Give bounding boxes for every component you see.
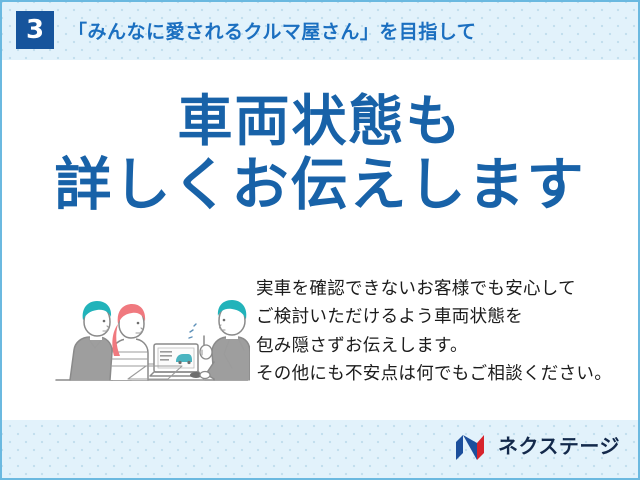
header: 3 「みんなに愛されるクルマ屋さん」を目指して bbox=[2, 2, 638, 58]
body-line-3: 包み隠さずお伝えします。 bbox=[256, 331, 638, 359]
sparkle-icon bbox=[189, 324, 196, 338]
footer: ネクステージ bbox=[2, 420, 638, 478]
page-title: 車両状態も 詳しくお伝えします bbox=[2, 90, 638, 218]
body-line-2: ご検討いただけるよう車両状態を bbox=[256, 302, 638, 330]
lower-section: .ol { fill:none; stroke:#8a8a8a; stroke-… bbox=[2, 272, 638, 420]
pointing-hand bbox=[200, 336, 212, 359]
body-line-1: 実車を確認できないお客様でも安心して bbox=[256, 274, 638, 302]
headline-line-2: 詳しくお伝えします bbox=[2, 153, 638, 218]
brand-name: ネクステージ bbox=[498, 437, 620, 457]
header-title: 「みんなに愛されるクルマ屋さん」を目指して bbox=[68, 17, 476, 44]
customer-man-figure bbox=[70, 301, 112, 380]
headline-line-1: 車両状態も bbox=[2, 90, 638, 153]
content-panel: 車両状態も 詳しくお伝えします .ol { fill:none; stroke:… bbox=[2, 60, 638, 420]
body-line-4: その他にも不安点は何でもご相談ください。 bbox=[256, 359, 638, 387]
body-copy: 実車を確認できないお客様でも安心して ご検討いただけるよう車両状態を 包み隠さず… bbox=[256, 274, 638, 387]
brand-logo: ネクステージ bbox=[455, 432, 620, 462]
advertisement-banner: 3 「みんなに愛されるクルマ屋さん」を目指して 車両状態も 詳しくお伝えします … bbox=[0, 0, 640, 480]
nextage-n-mark-icon bbox=[455, 434, 491, 461]
step-number-badge: 3 bbox=[16, 11, 54, 49]
consultation-illustration: .ol { fill:none; stroke:#8a8a8a; stroke-… bbox=[54, 276, 250, 402]
